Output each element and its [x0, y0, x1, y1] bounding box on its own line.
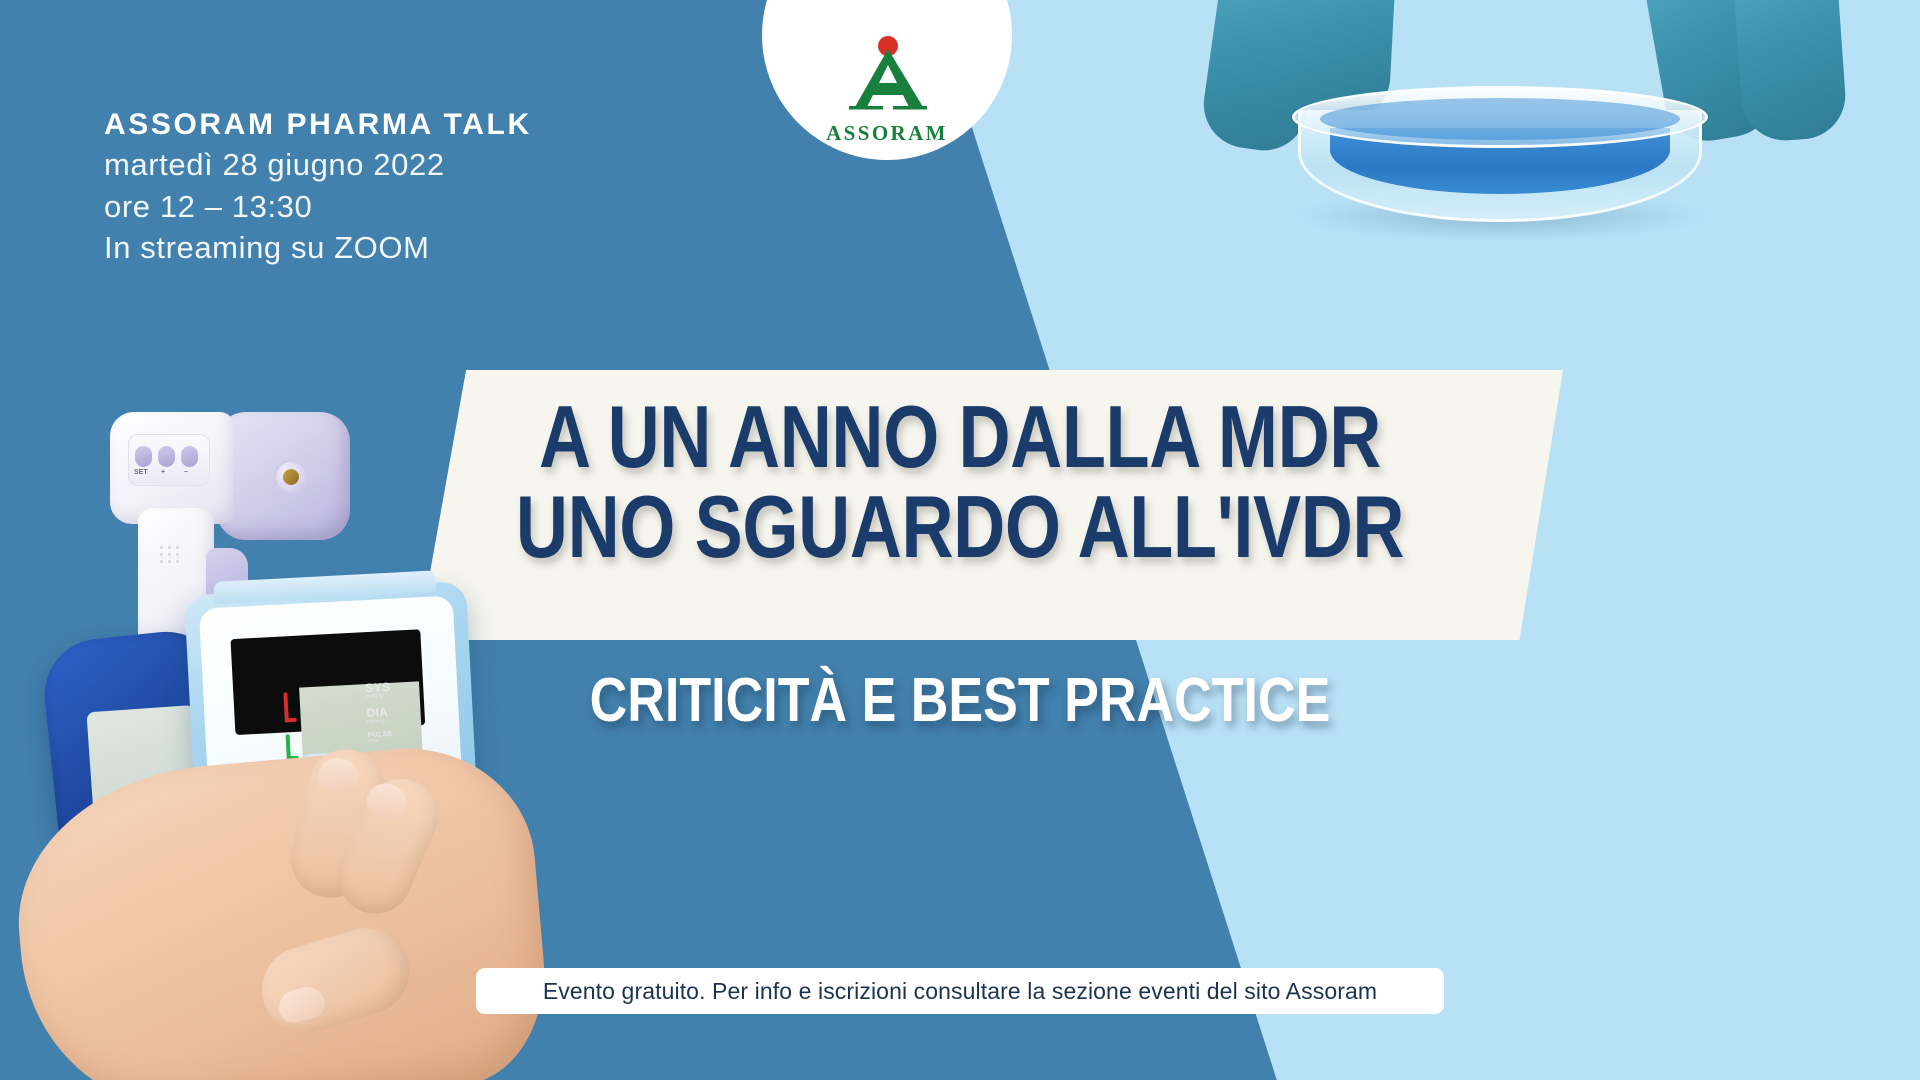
event-date: martedì 28 giugno 2022 [104, 144, 532, 185]
poster-canvas: ASSORAM SET + − [0, 0, 1920, 1080]
main-title: A UN ANNO DALLA MDR UNO SGUARDO ALL'IVDR [0, 392, 1920, 572]
assoram-wordmark: ASSORAM [826, 121, 948, 146]
title-line-2: UNO SGUARDO ALL'IVDR [173, 482, 1747, 572]
event-platform: In streaming su ZOOM [104, 227, 532, 268]
event-header: ASSORAM PHARMA TALK martedì 28 giugno 20… [104, 106, 532, 268]
petri-dish-rim-inner [1320, 98, 1680, 140]
assoram-a-mark-icon [831, 35, 943, 119]
assoram-logo-badge: ASSORAM [762, 0, 1012, 160]
petri-dish-illustration [1180, 0, 1920, 290]
registration-note-banner: Evento gratuito. Per info e iscrizioni c… [476, 968, 1444, 1014]
event-series-title: ASSORAM PHARMA TALK [104, 106, 532, 144]
registration-note-text: Evento gratuito. Per info e iscrizioni c… [543, 978, 1377, 1005]
title-line-1: A UN ANNO DALLA MDR [173, 392, 1747, 482]
thumb [251, 917, 420, 1043]
event-time: ore 12 – 13:30 [104, 186, 532, 227]
subtitle: CRITICITÀ E BEST PRACTICE [154, 665, 1767, 736]
